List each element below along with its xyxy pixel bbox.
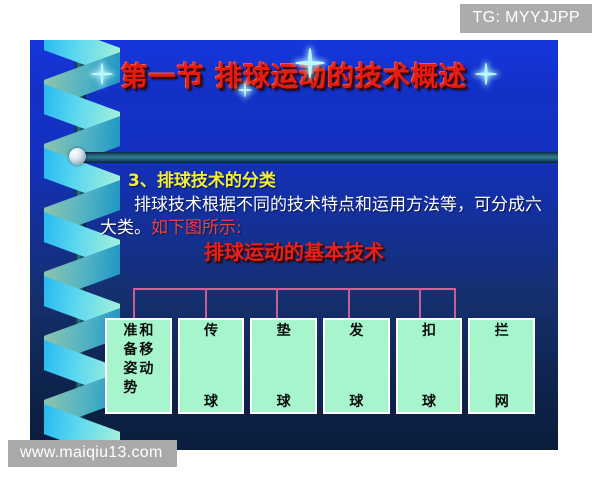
technique-char: 动 <box>139 362 153 376</box>
technique-char: 移 <box>139 343 153 357</box>
technique-char: 球 <box>349 395 363 409</box>
body-text-block: 3、排球技术的分类 排球技术根据不同的技术特点和运用方法等，可分成六大类。如下图… <box>100 166 552 240</box>
section-heading: 3、排球技术的分类 <box>128 166 552 191</box>
connector-vertical <box>419 288 421 318</box>
slide-canvas: 第一节 排球运动的技术概述 3、排球技术的分类 排球技术根据不同的技术特点和运用… <box>0 0 600 480</box>
technique-char: 拦 <box>495 324 509 338</box>
technique-char: 传 <box>204 324 218 338</box>
technique-char: 扣 <box>422 324 436 338</box>
connector-vertical <box>205 288 207 318</box>
slide-title-row: 第一节 排球运动的技术概述 <box>30 48 558 100</box>
technique-char: 球 <box>277 395 291 409</box>
body-paragraph: 排球技术根据不同的技术特点和运用方法等，可分成六大类。如下图所示: <box>100 194 552 240</box>
connector-vertical <box>454 288 456 318</box>
connector-vertical <box>276 288 278 318</box>
technique-label-main: 扣球 <box>422 324 436 409</box>
technique-label-main: 传球 <box>204 324 218 409</box>
sparkle-icon <box>475 63 497 85</box>
technique-char: 垫 <box>277 324 291 338</box>
website-watermark: www.maiqiu13.com <box>8 440 177 467</box>
technique-char: 势 <box>123 381 137 395</box>
technique-char: 姿 <box>123 362 137 376</box>
body-text-red: 如下图所示: <box>151 218 242 238</box>
chart-title: 排球运动的基本技术 <box>30 236 558 265</box>
bar-knob-icon <box>69 148 86 165</box>
technique-box[interactable]: 拦网 <box>468 318 535 414</box>
technique-char: 球 <box>422 395 436 409</box>
technique-char: 网 <box>495 395 509 409</box>
slide-title: 第一节 排球运动的技术概述 <box>121 55 467 94</box>
technique-char: 准 <box>123 324 137 338</box>
technique-box-row: 和移动 准备姿势 传球 垫球 发球 扣球 <box>105 318 535 414</box>
technique-box[interactable]: 垫球 <box>250 318 317 414</box>
divider-bar <box>74 152 558 163</box>
presentation-slide: 第一节 排球运动的技术概述 3、排球技术的分类 排球技术根据不同的技术特点和运用… <box>30 40 558 450</box>
technique-label-main: 拦网 <box>495 324 509 409</box>
technique-label-main: 发球 <box>349 324 363 409</box>
technique-box[interactable]: 传球 <box>178 318 245 414</box>
technique-char: 球 <box>204 395 218 409</box>
technique-box[interactable]: 扣球 <box>396 318 463 414</box>
technique-label-main: 垫球 <box>277 324 291 409</box>
connector-vertical <box>133 288 135 318</box>
connector-horizontal <box>133 288 455 290</box>
technique-char: 和 <box>139 324 153 338</box>
technique-char: 备 <box>123 343 137 357</box>
telegram-watermark: TG: MYYJJPP <box>460 4 592 33</box>
sparkle-icon <box>238 83 252 97</box>
sparkle-icon <box>295 48 325 78</box>
technique-label-sub: 和移动 <box>139 324 153 409</box>
technique-box[interactable]: 发球 <box>323 318 390 414</box>
technique-char: 发 <box>349 324 363 338</box>
connector-vertical <box>348 288 350 318</box>
technique-box[interactable]: 和移动 准备姿势 <box>105 318 172 414</box>
sparkle-icon <box>91 63 113 85</box>
technique-label-main: 准备姿势 <box>123 324 137 409</box>
